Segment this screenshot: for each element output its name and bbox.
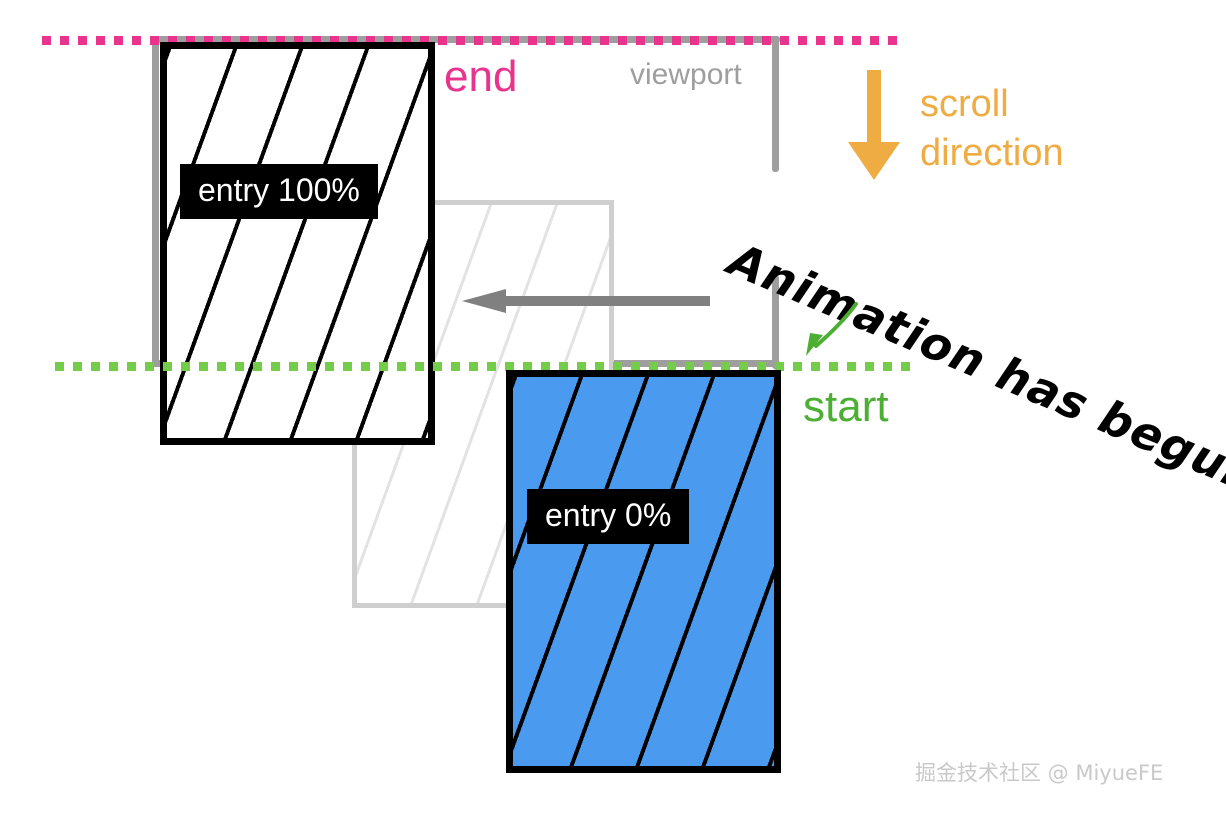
watermark-text: 掘金技术社区 @ MiyueFE (915, 757, 1163, 787)
scroll-direction-line1: scroll (920, 80, 1064, 129)
viewport-border-left (152, 36, 159, 366)
scroll-direction-line2: direction (920, 129, 1064, 178)
entry-100-badge: entry 100% (180, 164, 378, 219)
annotation-pointer-arrow-icon (798, 302, 860, 358)
entry-0-badge: entry 0% (527, 489, 689, 544)
scroll-down-arrow-icon (848, 70, 900, 180)
start-guide-line (55, 362, 913, 371)
animation-begun-annotation: Animation has begun! (721, 232, 1226, 513)
scroll-direction-label: scroll direction (920, 80, 1064, 177)
viewport-border-right-upper (772, 36, 779, 172)
start-guide-label: start (803, 382, 889, 432)
start-state-box (506, 370, 781, 773)
end-state-box (160, 42, 435, 445)
diagram-canvas: viewport end entry 100% start entry 0% s… (0, 0, 1226, 814)
end-guide-label: end (444, 52, 517, 102)
viewport-label: viewport (630, 58, 742, 92)
motion-arrow-left-icon (460, 288, 710, 314)
